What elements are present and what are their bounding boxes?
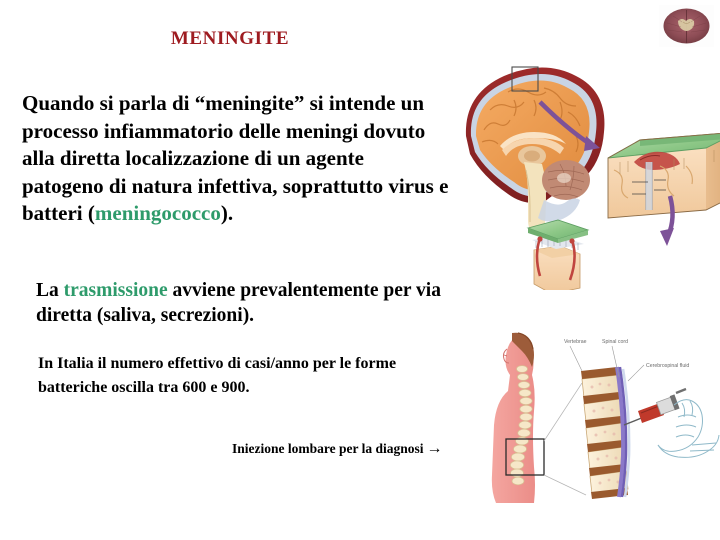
- transmission-highlight-trasmissione: trasmissione: [64, 280, 168, 301]
- transmission-text-lead: La: [36, 280, 64, 301]
- caption-lumbar-injection: Iniezione lombare per la diagnosi→: [232, 440, 443, 458]
- brain-cross-section-thumbnail-icon: [659, 5, 714, 47]
- figure-lumbar-puncture: Vertebrae Spinal cord Cerebrospinal flui…: [478, 305, 720, 520]
- label-cerebrospinal-fluid: Cerebrospinal fluid: [646, 363, 689, 369]
- caption-lumbar-text: Iniezione lombare per la diagnosi: [232, 441, 424, 456]
- slide-canvas: MENINGITE Quando si parla di “meningite”…: [0, 0, 720, 540]
- right-arrow-icon: →: [424, 440, 443, 457]
- figure-brain-meninges: [448, 50, 720, 290]
- brain-sagittal-section: [466, 67, 605, 234]
- label-vertebrae: Vertebrae: [564, 339, 587, 345]
- meninges-layer-block: [528, 220, 588, 290]
- definition-text-tail: ).: [221, 201, 233, 225]
- meninges-block-diagram: [608, 132, 720, 246]
- definition-highlight-meningococco: meningococco: [95, 201, 221, 225]
- label-spinal-cord: Spinal cord: [602, 339, 628, 345]
- paragraph-transmission: La trasmissione avviene prevalentemente …: [36, 278, 466, 328]
- definition-text-lead: Quando si parla di “meningite” si intend…: [22, 91, 448, 225]
- paragraph-statistics: In Italia il numero effettivo di casi/an…: [38, 352, 398, 400]
- page-title: MENINGITE: [0, 28, 460, 50]
- paragraph-definition: Quando si parla di “meningite” si intend…: [22, 90, 450, 228]
